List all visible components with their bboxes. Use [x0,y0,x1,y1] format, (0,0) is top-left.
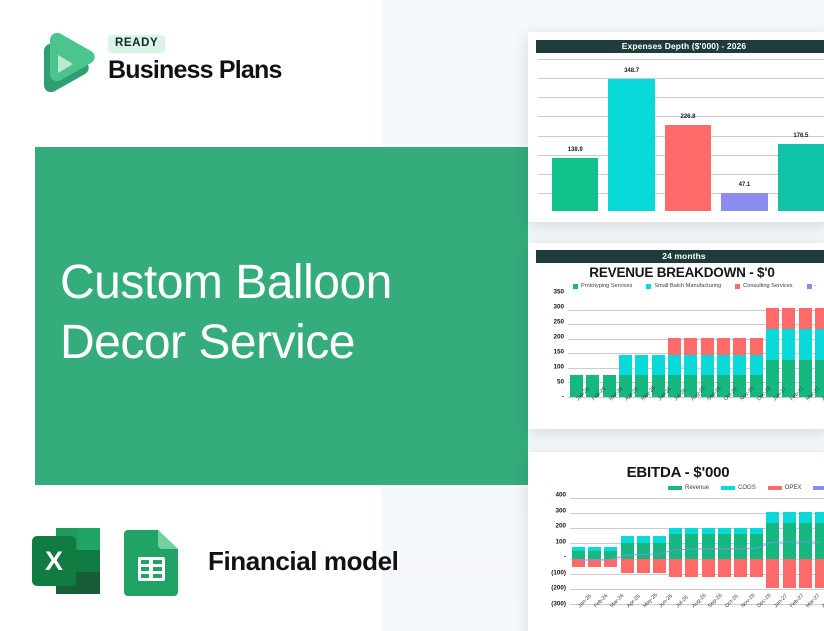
stacked-bar [668,295,681,397]
page-title: Custom Balloon Decor Service [60,253,530,373]
x-tick: May-26 [634,397,647,427]
legend-swatch [768,486,782,490]
y-tick-label: 100 [555,538,566,545]
bar-segment [782,329,795,360]
stacked-bar [733,295,746,397]
x-tick: Mar-26 [601,397,614,427]
stacked-bar [603,295,616,397]
x-tick: Jan-26 [570,604,583,631]
bar-segment [635,355,648,375]
y-axis-revenue-breakdown: 35030025020015010050- [530,292,566,397]
bar-value-label: 348.7 [608,68,654,74]
bar-segment [668,355,681,375]
x-tick: Dec-26 [750,604,763,631]
chart-legend-ebitda: RevenueCOGSOPEX0 [668,485,824,491]
x-tick: Apr-26 [617,397,630,427]
x-tick: Jun-26 [650,397,663,427]
legend-item: - [807,283,817,289]
bar-fill [608,79,654,212]
bar-fill [721,193,767,211]
stacked-bar [652,295,665,397]
stacked-bar [701,295,714,397]
legend-label: Small Batch Manufacturing [654,283,721,289]
bar-value-label: 226.8 [665,114,711,120]
y-tick-label: 400 [555,492,566,499]
chart-title-expenses-depth: Expenses Depth ($'000) - 2026 [536,40,824,53]
brand-name: Business Plans [108,57,282,83]
y-tick-label: 100 [553,364,564,371]
poster-canvas: READY Business Plans Custom Balloon Deco… [0,0,824,631]
stacked-bar [586,295,599,397]
y-tick-label: 200 [555,523,566,530]
legend-item: 0 [813,485,824,491]
x-tick: Oct-26 [717,604,730,631]
bar-segment [717,355,730,375]
stacked-bar [799,295,812,397]
play-triangle-logo-icon [30,29,96,99]
x-axis-ebitda: Jan-26Feb-26Mar-26Apr-26May-26Jun-26Jul-… [570,604,824,631]
legend-item: Small Batch Manufacturing [646,283,721,289]
bar-fill [665,125,711,211]
x-tick: Feb-27 [782,397,795,427]
stacked-bar [766,295,779,397]
x-tick: Sep-26 [700,397,713,427]
x-axis-revenue-breakdown: Jan-26Feb-26Mar-26Apr-26May-26Jun-26Jul-… [568,397,824,427]
bar: 138.9 [552,158,598,211]
x-tick: May-26 [635,604,648,631]
y-tick-label: 50 [557,379,564,386]
legend-label: OPEX [785,485,802,491]
x-tick: Apr-26 [619,604,632,631]
x-tick: Aug-26 [684,604,697,631]
bar-value-label: 47.1 [721,182,767,188]
bar-segment [750,355,763,375]
bar-segment [717,338,730,355]
x-tick: Dec-26 [749,397,762,427]
legend-item: Revenue [668,485,709,491]
y-tick-label: 350 [553,289,564,296]
legend-item: Consulting Services [735,283,792,289]
bar-segment [815,329,824,360]
bar-group-revenue-breakdown [570,295,824,397]
line-series-zero [578,542,820,560]
legend-item: COGS [721,485,756,491]
chart-plot-expenses-depth: 138.9348.7226.847.1176.5 [538,59,824,212]
bar-segment [701,355,714,375]
bar-segment [684,355,697,375]
x-tick: Aug-26 [683,397,696,427]
page-title-line-2: Decor Service [60,313,530,373]
legend-label: - [815,283,817,289]
y-tick-label: 300 [553,304,564,311]
stacked-bar [619,295,632,397]
legend-label: Revenue [685,485,709,491]
zero-line-series-ebitda [570,498,824,604]
microsoft-excel-icon: X [30,526,102,596]
bar-segment [750,338,763,355]
legend-item: OPEX [768,485,802,491]
chart-legend-revenue-breakdown: Prototyping ServicesSmall Batch Manufact… [573,283,816,289]
bar-value-label: 176.5 [778,133,824,139]
x-tick: Jan-27 [765,397,778,427]
bar-segment [701,338,714,355]
x-tick: Sep-26 [701,604,714,631]
legend-swatch [668,486,682,490]
svg-text:X: X [45,546,63,576]
bar-segment [652,355,665,375]
stacked-bar [815,295,824,397]
stacked-bar [717,295,730,397]
bar-segment [799,329,812,360]
x-tick: Feb-26 [586,604,599,631]
y-tick-label: 250 [553,319,564,326]
legend-swatch [573,284,578,289]
bar-segment [815,308,824,329]
y-tick-label: (300) [551,601,566,608]
stacked-bar [782,295,795,397]
google-sheets-icon [122,526,184,596]
x-tick: Jul-26 [668,604,681,631]
x-tick: Jul-26 [667,397,680,427]
bar-segment [733,355,746,375]
bar: 176.5 [778,144,824,211]
chart-plot-revenue-breakdown [568,295,824,397]
y-tick-label: 150 [553,349,564,356]
stacked-bar [570,295,583,397]
legend-label: COGS [738,485,756,491]
y-tick-label: 200 [553,334,564,341]
x-tick: Mar-26 [603,604,616,631]
y-tick-label: - [562,394,564,401]
brand-lockup: READY Business Plans [108,33,282,83]
x-tick: Nov-26 [733,604,746,631]
x-tick: Feb-26 [584,397,597,427]
legend-swatch [735,284,740,289]
bar-fill [778,144,824,211]
bar-segment [684,338,697,355]
bar-fill [552,158,598,211]
legend-swatch [721,486,735,490]
x-tick: Jan-26 [568,397,581,427]
chart-card-expenses-depth: Expenses Depth ($'000) - 2026 138.9348.7… [528,32,824,222]
y-tick-label: - [564,554,566,561]
y-tick-label: (200) [551,585,566,592]
legend-swatch [807,284,812,289]
y-tick-label: (100) [551,569,566,576]
bar-segment [766,308,779,329]
legend-item: Prototyping Services [573,283,632,289]
bar-segment [733,338,746,355]
footer-label: Financial model [208,546,399,577]
bar-segment [766,329,779,360]
x-tick: Mar-27 [798,397,811,427]
bar: 47.1 [721,193,767,211]
bar-value-label: 138.9 [552,147,598,153]
chart-card-ebitda: EBITDA - $'000 RevenueCOGSOPEX0 40030020… [528,452,824,631]
bar-segment [668,338,681,355]
x-tick: Apr-27 [815,397,824,427]
chart-title-revenue-breakdown: REVENUE BREAKDOWN - $'0 [536,265,824,280]
x-tick: Apr-27 [815,604,824,631]
bar-segment [782,308,795,329]
x-tick: Jun-26 [652,604,665,631]
stacked-bar [750,295,763,397]
chart-band-24-months: 24 months [536,250,824,263]
chart-card-revenue-breakdown: 24 months REVENUE BREAKDOWN - $'0 Protot… [528,243,824,429]
x-tick: Oct-26 [716,397,729,427]
x-tick: Feb-27 [782,604,795,631]
bar-group-expenses-depth: 138.9348.7226.847.1176.5 [552,59,824,211]
legend-swatch [813,486,824,490]
chart-title-ebitda: EBITDA - $'000 [528,464,824,481]
bar: 348.7 [608,79,654,212]
stacked-bar [635,295,648,397]
legend-label: Prototyping Services [581,283,632,289]
x-tick: Mar-27 [799,604,812,631]
footer-row: X Financial model [30,525,399,597]
ready-badge: READY [108,35,165,53]
bar-segment [799,308,812,329]
page-title-line-1: Custom Balloon [60,253,530,313]
brand-logo: READY Business Plans [30,27,310,107]
chart-plot-ebitda [570,498,824,604]
y-axis-ebitda: 400300200100-(100)(200)(300) [532,495,568,604]
x-tick: Jan-27 [766,604,779,631]
legend-swatch [646,284,651,289]
y-tick-label: 300 [555,507,566,514]
x-tick: Nov-26 [733,397,746,427]
legend-label: Consulting Services [743,283,792,289]
bar: 226.8 [665,125,711,211]
bar-segment [619,355,632,375]
stacked-bar [684,295,697,397]
